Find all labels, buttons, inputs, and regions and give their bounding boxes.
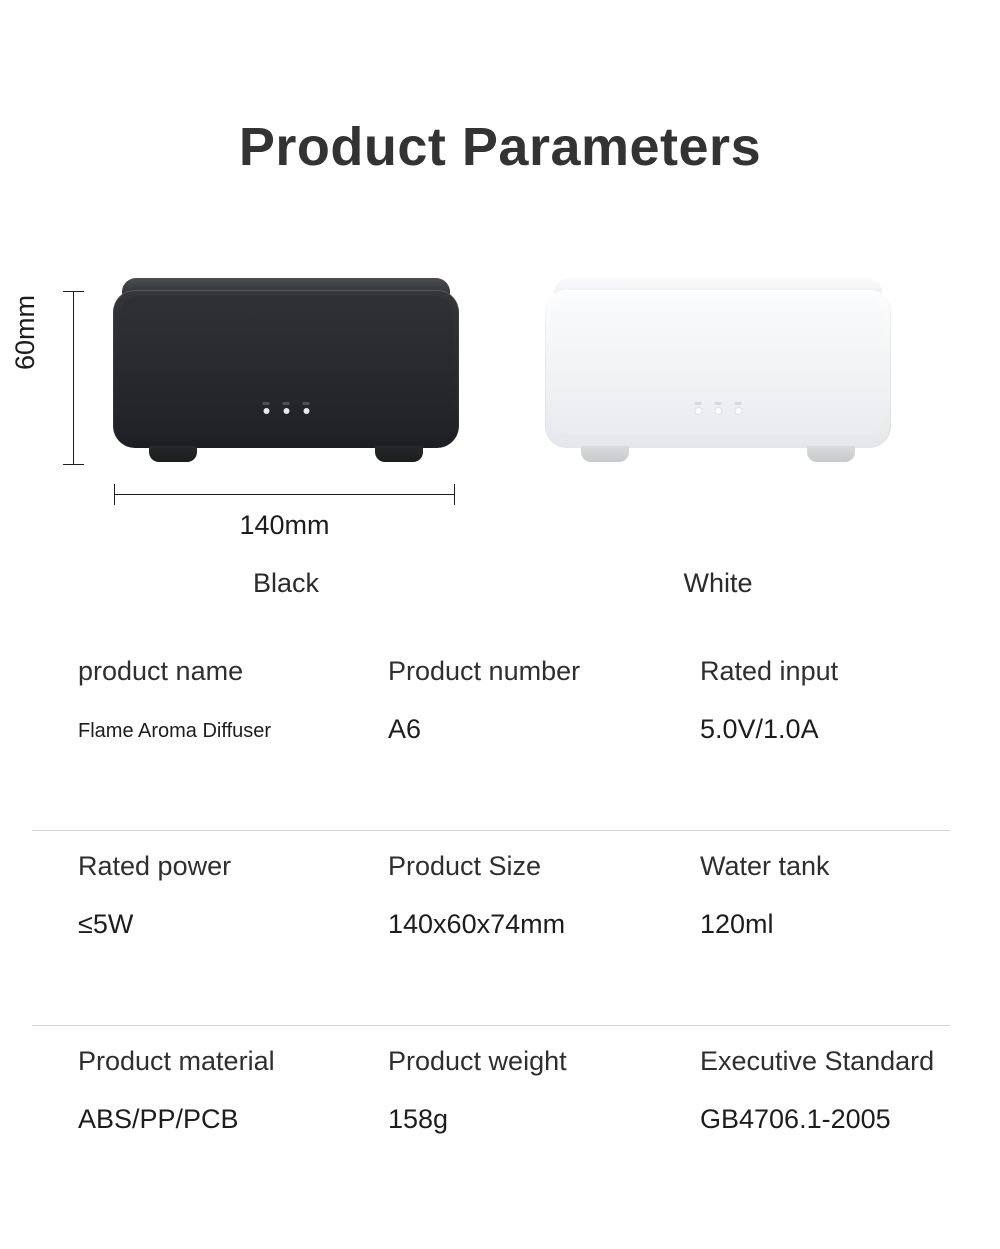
spec-value: 140x60x74mm — [388, 908, 565, 940]
spec-cell: Product number A6 — [388, 655, 580, 746]
device-foot-left — [149, 446, 197, 462]
mist-indicator — [715, 402, 722, 414]
color-caption-white: White — [545, 568, 891, 599]
row-divider — [32, 830, 950, 831]
mist-led-icon — [715, 408, 721, 414]
spec-value: A6 — [388, 713, 580, 745]
mist-indicator — [283, 402, 290, 414]
spec-value: ≤5W — [78, 908, 231, 940]
spec-cell: Product Size 140x60x74mm — [388, 850, 565, 941]
spec-cell: product name Flame Aroma Diffuser — [78, 655, 271, 743]
spec-cell: Executive Standard GB4706.1-2005 — [700, 1045, 934, 1136]
spec-label: Product weight — [388, 1045, 567, 1077]
spec-cell: Product weight 158g — [388, 1045, 567, 1136]
spec-value: 5.0V/1.0A — [700, 713, 838, 745]
led-indicator-cluster — [263, 402, 310, 414]
spec-cell: Water tank 120ml — [700, 850, 830, 941]
power-led-icon — [263, 408, 269, 414]
spec-label: Rated input — [700, 655, 838, 687]
power-icon — [695, 402, 702, 405]
mist-icon — [715, 402, 722, 405]
spec-label: Water tank — [700, 850, 830, 882]
product-parameters-page: { "page": { "title": "Product Parameters… — [0, 0, 1000, 1249]
light-led-icon — [735, 408, 741, 414]
row-divider — [32, 1025, 950, 1026]
mist-icon — [283, 402, 290, 405]
mist-led-icon — [283, 408, 289, 414]
device-foot-right — [807, 446, 855, 462]
light-indicator — [735, 402, 742, 414]
light-icon — [735, 402, 742, 405]
device-body — [113, 290, 459, 448]
product-image-black — [113, 278, 459, 468]
spec-value: ABS/PP/PCB — [78, 1103, 275, 1135]
power-icon — [263, 402, 270, 405]
spec-value: 120ml — [700, 908, 830, 940]
width-dimension-line — [114, 494, 455, 495]
spec-value: GB4706.1-2005 — [700, 1103, 934, 1135]
specifications-table: product name Flame Aroma Diffuser Produc… — [0, 655, 1000, 1240]
spec-cell: Product material ABS/PP/PCB — [78, 1045, 275, 1136]
spec-label: Product number — [388, 655, 580, 687]
width-dimension-label: 140mm — [114, 510, 455, 541]
light-icon — [303, 402, 310, 405]
height-dimension-label: 60mm — [10, 310, 41, 370]
spec-row: Product material ABS/PP/PCB Product weig… — [0, 1045, 1000, 1240]
spec-row: Rated power ≤5W Product Size 140x60x74mm… — [0, 850, 1000, 1045]
product-image-white — [545, 278, 891, 468]
spec-label: Product Size — [388, 850, 565, 882]
spec-label: product name — [78, 655, 271, 687]
device-front-panel — [551, 296, 885, 434]
power-indicator — [695, 402, 702, 414]
color-caption-black: Black — [113, 568, 459, 599]
device-body — [545, 290, 891, 448]
power-led-icon — [695, 408, 701, 414]
spec-value: Flame Aroma Diffuser — [78, 719, 271, 743]
power-indicator — [263, 402, 270, 414]
spec-cell: Rated input 5.0V/1.0A — [700, 655, 838, 746]
product-showcase: 60mm 140mm — [0, 0, 1000, 620]
spec-cell: Rated power ≤5W — [78, 850, 231, 941]
device-foot-right — [375, 446, 423, 462]
spec-label: Rated power — [78, 850, 231, 882]
device-front-panel — [119, 296, 453, 434]
device-foot-left — [581, 446, 629, 462]
light-led-icon — [303, 408, 309, 414]
spec-value: 158g — [388, 1103, 567, 1135]
height-dimension-line — [73, 291, 74, 465]
led-indicator-cluster — [695, 402, 742, 414]
spec-label: Executive Standard — [700, 1045, 934, 1077]
spec-label: Product material — [78, 1045, 275, 1077]
light-indicator — [303, 402, 310, 414]
spec-row: product name Flame Aroma Diffuser Produc… — [0, 655, 1000, 850]
